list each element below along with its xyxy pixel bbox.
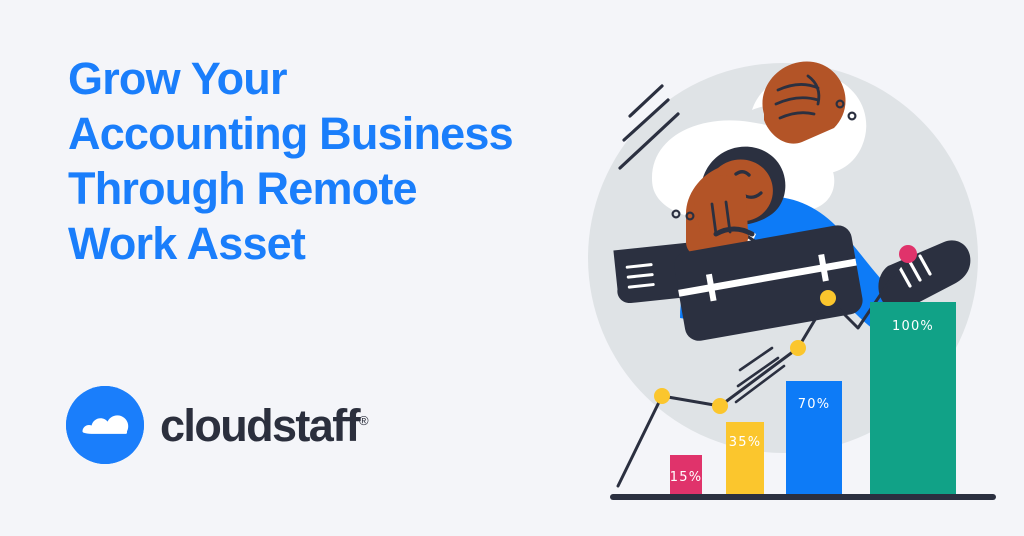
trend-marker-1 — [654, 388, 670, 404]
bar-2 — [726, 422, 764, 497]
trend-marker-3 — [790, 340, 806, 356]
brand-logo[interactable]: cloudstaff® — [66, 386, 369, 464]
wordmark-text: cloudstaff — [160, 400, 359, 451]
page-title: Grow Your Accounting Business Through Re… — [68, 52, 588, 272]
cloudstaff-cloud-icon — [66, 386, 144, 464]
trend-marker-4 — [820, 290, 836, 306]
headline-line-3: Through Remote — [68, 162, 588, 217]
chart-baseline-axis — [610, 494, 996, 500]
cloudstaff-wordmark: cloudstaff® — [160, 403, 369, 448]
headline-line-1: Grow Your — [68, 52, 588, 107]
headline-block: Grow Your Accounting Business Through Re… — [68, 52, 588, 272]
bar-label-2: 35% — [729, 435, 762, 450]
headline-line-4: Work Asset — [68, 217, 588, 272]
bar-label-3: 70% — [798, 397, 831, 412]
registered-trademark-symbol: ® — [359, 413, 369, 428]
marketing-banner: Grow Your Accounting Business Through Re… — [0, 0, 1024, 536]
trend-marker-2 — [712, 398, 728, 414]
trend-marker-end — [899, 245, 917, 263]
bar-label-1: 15% — [670, 470, 703, 485]
hero-illustration: 15% 35% 70% 100% — [540, 18, 1024, 518]
headline-line-2: Accounting Business — [68, 107, 588, 162]
bar-label-4: 100% — [892, 319, 934, 334]
